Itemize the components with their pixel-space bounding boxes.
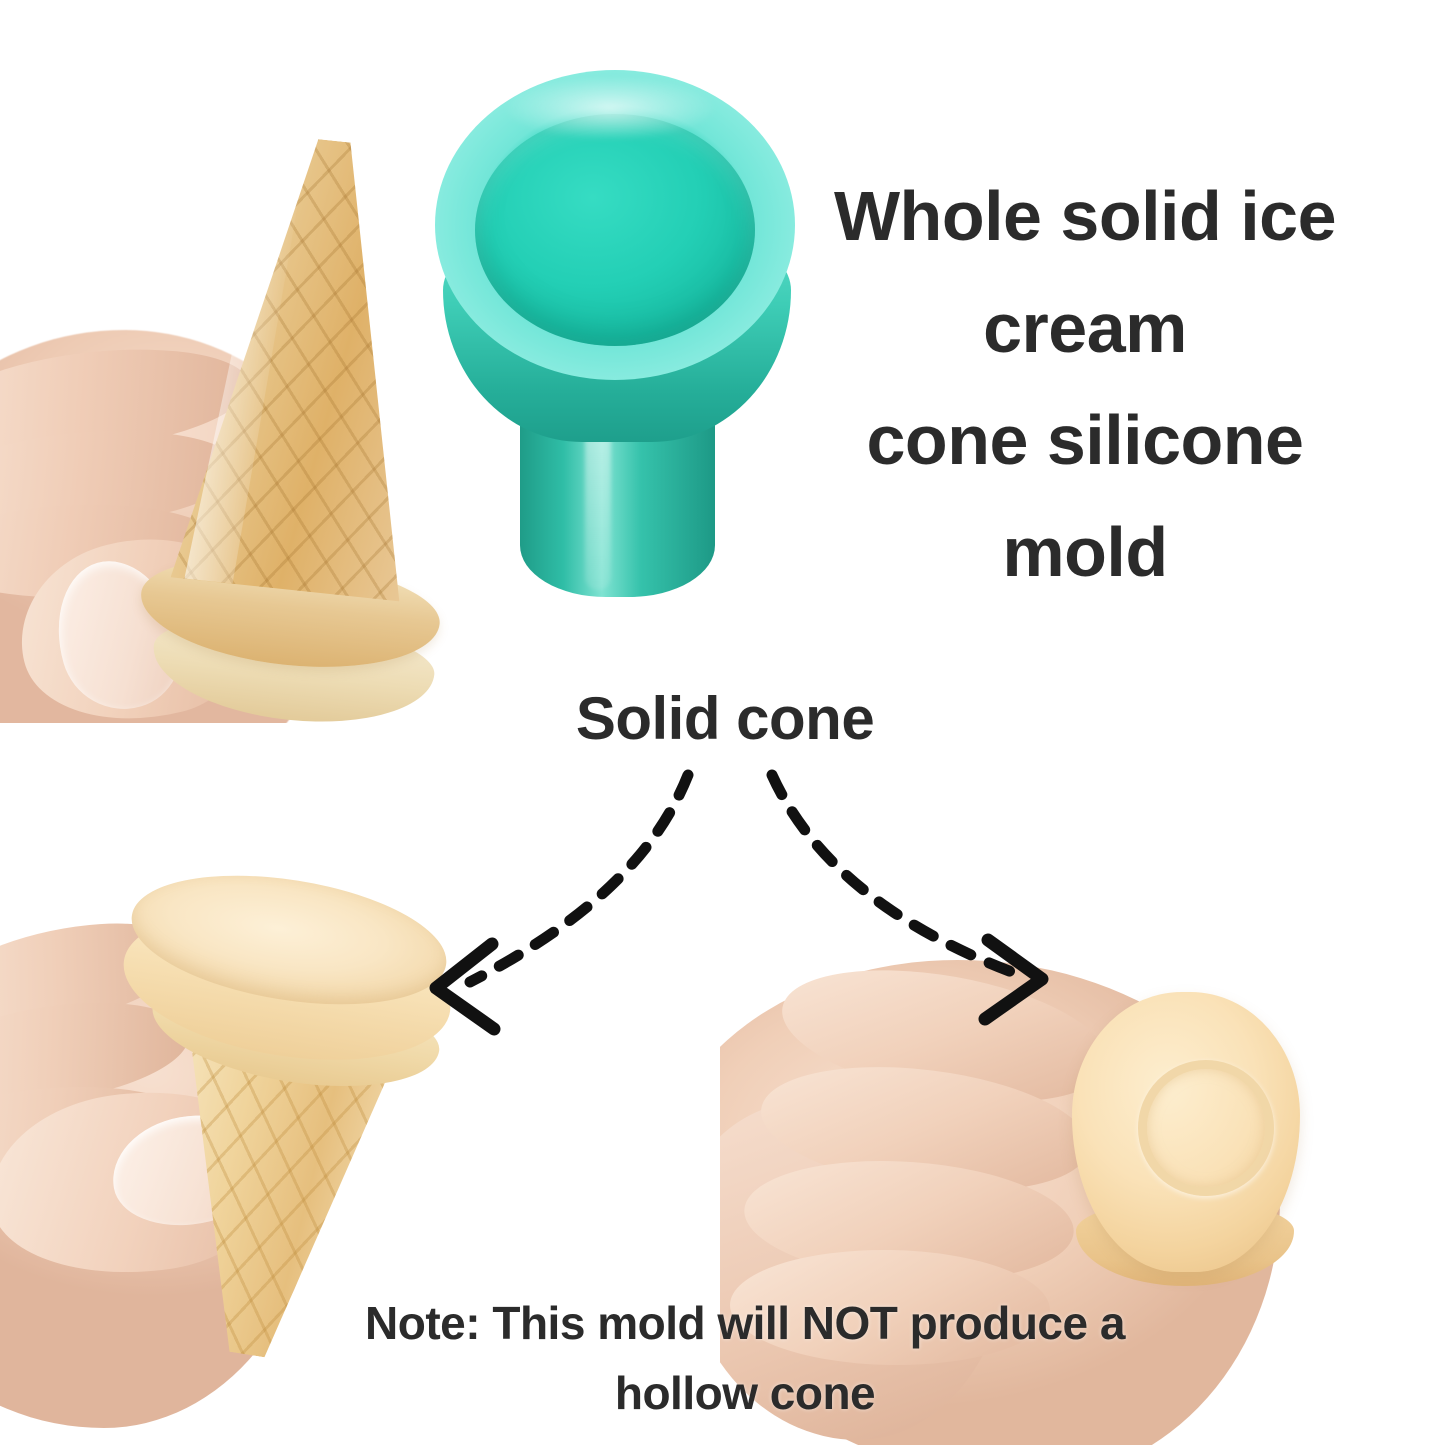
solid-cone-label: Solid cone: [380, 683, 1070, 755]
heading-line-1: Whole solid ice: [735, 160, 1435, 272]
heading-line-3: cone silicone: [735, 384, 1435, 496]
page-title: Whole solid ice cream cone silicone mold: [735, 160, 1435, 608]
note-line-1: Note: This mold will NOT produce a: [285, 1288, 1205, 1358]
product-infographic: Whole solid ice cream cone silicone mold…: [0, 0, 1445, 1445]
heading-line-2: cream: [735, 272, 1435, 384]
mold-highlight: [505, 76, 715, 140]
note-line-2: hollow cone: [285, 1358, 1205, 1428]
mold-cavity: [475, 114, 755, 346]
heading-line-4: mold: [735, 496, 1435, 608]
waffle-cone: [169, 129, 447, 620]
note-text: Note: This mold will NOT produce a hollo…: [285, 1288, 1205, 1428]
